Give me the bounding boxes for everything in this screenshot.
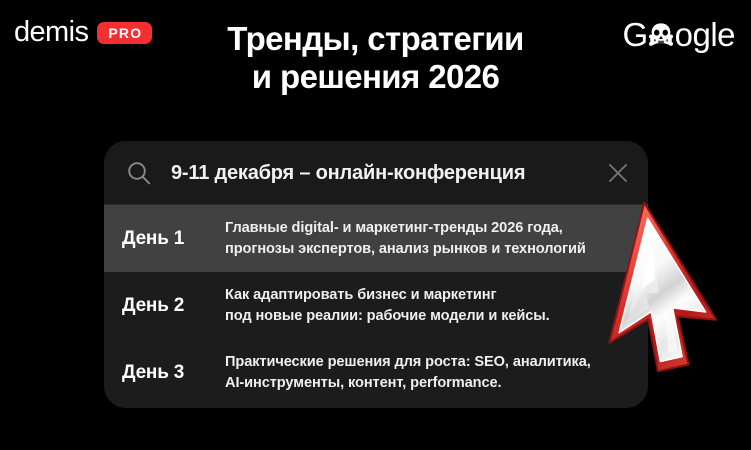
search-suggestions-panel: 9-11 декабря – онлайн-конференция День 1… [104, 141, 648, 408]
pro-badge: PRO [97, 22, 152, 44]
headline-line-1: Тренды, стратегии [227, 20, 523, 57]
search-input[interactable]: 9-11 декабря – онлайн-конференция [171, 162, 606, 185]
day-label: День 3 [122, 362, 208, 384]
list-item[interactable]: День 2 Как адаптировать бизнес и маркети… [104, 272, 648, 339]
day-description: Как адаптировать бизнес и маркетинг под … [225, 285, 632, 325]
list-item[interactable]: День 1 Главные digital- и маркетинг-трен… [104, 205, 648, 272]
suggestion-list: День 1 Главные digital- и маркетинг-трен… [104, 205, 648, 406]
google-letters-ogle: ogle [675, 18, 735, 51]
google-letter-g: G [622, 18, 647, 51]
search-icon [126, 160, 152, 186]
day-description-line-1: Практические решения для роста: SEO, ана… [225, 352, 632, 372]
headline-line-2: и решения 2026 [0, 58, 751, 96]
day-description-line-2: под новые реалии: рабочие модели и кейсы… [225, 306, 632, 326]
day-description: Главные digital- и маркетинг-тренды 2026… [225, 218, 632, 258]
brand-logo[interactable]: demis PRO [14, 18, 152, 47]
brand-name: demis [14, 18, 88, 47]
day-description-line-1: Как адаптировать бизнес и маркетинг [225, 285, 632, 305]
list-item[interactable]: День 3 Практические решения для роста: S… [104, 339, 648, 406]
day-description-line-2: AI-инструменты, контент, performance. [225, 373, 632, 393]
day-description-line-1: Главные digital- и маркетинг-тренды 2026… [225, 218, 632, 238]
close-icon[interactable] [606, 161, 630, 185]
search-bar[interactable]: 9-11 декабря – онлайн-конференция [104, 141, 648, 205]
day-description-line-2: прогнозы экспертов, анализ рынков и техн… [225, 239, 632, 259]
day-label: День 2 [122, 295, 208, 317]
skull-and-crossbones-icon [648, 21, 675, 51]
day-description: Практические решения для роста: SEO, ана… [225, 352, 632, 392]
day-label: День 1 [122, 228, 208, 250]
google-parody-logo: G ogle [622, 18, 735, 51]
promo-banner: { "brand": { "name": "demis", "badge": "… [0, 0, 751, 450]
